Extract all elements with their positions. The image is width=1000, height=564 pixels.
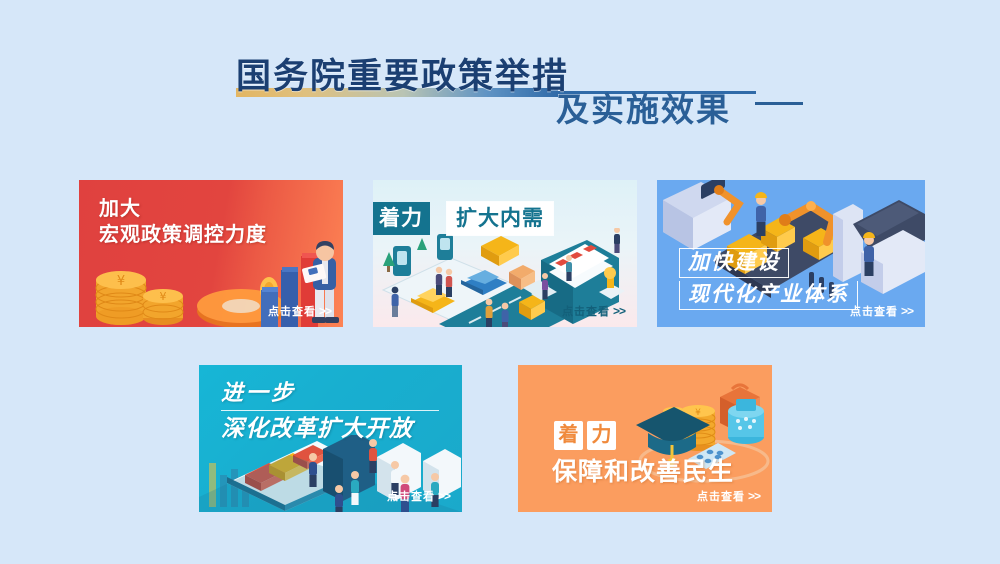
card5-cta-arrow-icon: >> xyxy=(748,489,760,503)
card1-cta-arrow-icon: >> xyxy=(319,304,331,318)
title-trailing-dash xyxy=(755,102,803,105)
card5-cta-label: 点击查看 xyxy=(697,491,745,503)
card2-cta-arrow-icon: >> xyxy=(613,304,625,318)
card5-title-char1: 着 xyxy=(554,421,583,450)
card-modern-industry[interactable]: 加快建设 现代化产业体系 点击查看>> xyxy=(657,180,925,327)
card1-title-line2: 宏观政策调控力度 xyxy=(99,222,267,248)
card-macro-policy[interactable]: ¥ ¥ xyxy=(79,180,343,327)
page-subtitle: 及实施效果 xyxy=(556,83,731,131)
card4-cta[interactable]: 点击查看>> xyxy=(387,488,450,504)
card2-cta-label: 点击查看 xyxy=(562,306,610,318)
card-domestic-demand[interactable]: 着力 扩大内需 点击查看>> xyxy=(373,180,637,327)
card1-cta[interactable]: 点击查看>> xyxy=(268,303,331,319)
card3-cta-arrow-icon: >> xyxy=(901,304,913,318)
card5-title-char2: 力 xyxy=(587,421,616,450)
card2-cta[interactable]: 点击查看>> xyxy=(562,303,625,319)
card1-cta-label: 点击查看 xyxy=(268,306,316,318)
card4-title-line2: 深化改革扩大开放 xyxy=(221,413,413,443)
card4-title-line1: 进一步 xyxy=(221,379,296,407)
card5-cta[interactable]: 点击查看>> xyxy=(697,488,760,504)
svg-text:¥: ¥ xyxy=(117,274,125,289)
svg-text:¥: ¥ xyxy=(160,290,167,303)
card4-title-divider xyxy=(221,410,439,411)
card1-title-line1: 加大 xyxy=(99,196,267,222)
card2-title-line1: 着力 xyxy=(373,202,430,235)
poster-page: 国务院重要政策举措 及实施效果 ¥ xyxy=(0,0,1000,564)
card5-title-line2: 保障和改善民生 xyxy=(552,457,734,487)
card-livelihood[interactable]: ¥ xyxy=(518,365,772,512)
card-reform-opening[interactable]: 进一步 深化改革扩大开放 点击查看>> xyxy=(199,365,462,512)
card3-cta-label: 点击查看 xyxy=(850,306,898,318)
svg-text:¥: ¥ xyxy=(695,408,701,418)
page-header: 国务院重要政策举措 及实施效果 xyxy=(0,0,1000,150)
card3-title-line2: 现代化产业体系 xyxy=(679,281,858,310)
card4-cta-arrow-icon: >> xyxy=(438,489,450,503)
card3-title-line1: 加快建设 xyxy=(679,248,789,278)
card2-title-line2: 扩大内需 xyxy=(447,202,553,235)
card1-title: 加大 宏观政策调控力度 xyxy=(99,196,267,248)
card4-cta-label: 点击查看 xyxy=(387,491,435,503)
page-title: 国务院重要政策举措 xyxy=(236,48,569,99)
card3-cta[interactable]: 点击查看>> xyxy=(850,303,913,319)
